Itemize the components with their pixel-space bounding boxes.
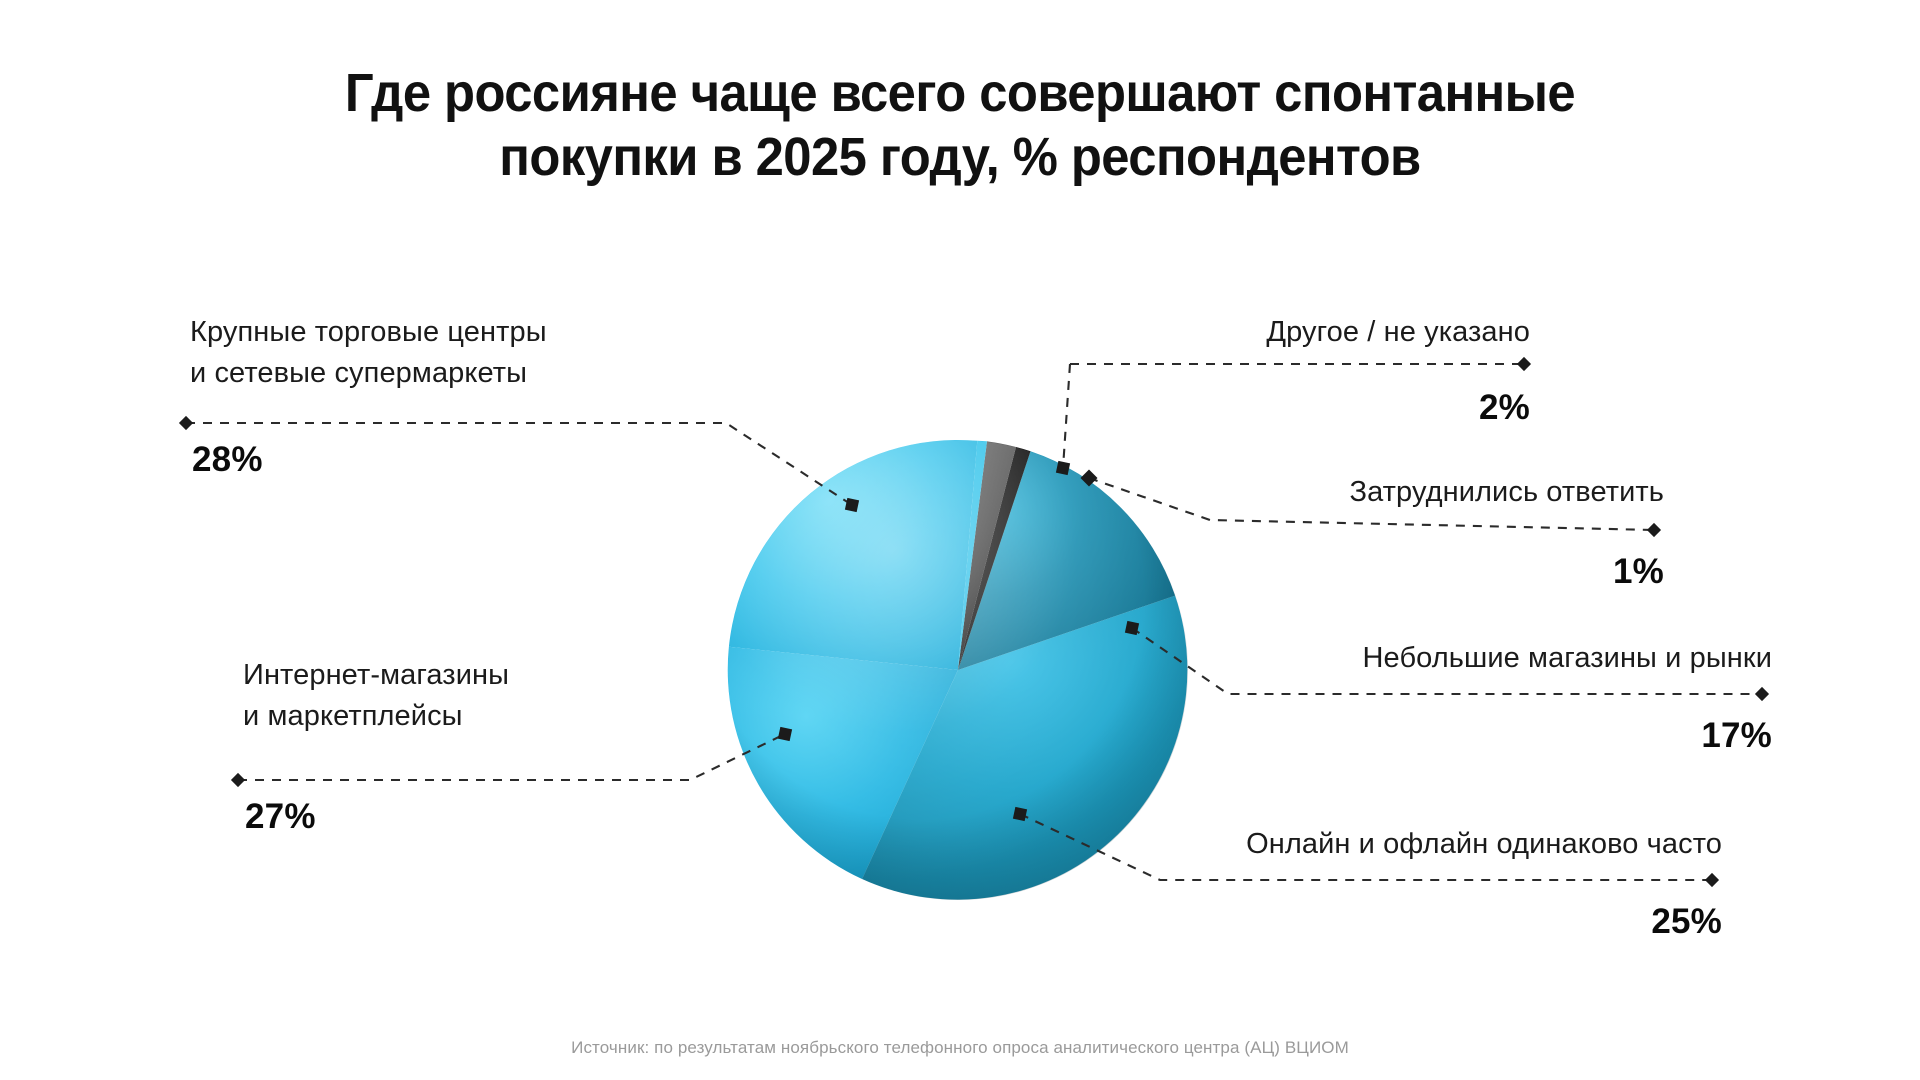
- leader-online: [238, 734, 785, 780]
- label-hard-line1: Затруднились ответить: [1349, 472, 1664, 513]
- label-both: Онлайн и офлайн одинаково часто: [1246, 824, 1722, 865]
- marker-online-pie: [778, 727, 792, 741]
- leader-malls: [186, 423, 852, 505]
- marker-online-label: [231, 773, 245, 787]
- label-both-line1: Онлайн и офлайн одинаково часто: [1246, 824, 1722, 865]
- marker-other-pie: [1056, 461, 1070, 475]
- marker-hard-pie: [1081, 470, 1098, 487]
- marker-both-pie: [1013, 807, 1027, 821]
- label-online-line2: и маркетплейсы: [243, 696, 509, 737]
- value-online: 27%: [245, 797, 316, 837]
- label-malls-line1: Крупные торговые центры: [190, 312, 547, 353]
- marker-small-pie: [1125, 621, 1139, 635]
- leader-endpoints: [179, 357, 1769, 887]
- marker-hard-label: [1647, 523, 1661, 537]
- value-small: 17%: [1701, 716, 1772, 756]
- value-hard: 1%: [1613, 552, 1664, 592]
- value-both: 25%: [1651, 902, 1722, 942]
- marker-malls-pie: [845, 498, 859, 512]
- label-online: Интернет-магазины и маркетплейсы: [243, 655, 509, 737]
- label-malls: Крупные торговые центры и сетевые суперм…: [190, 312, 547, 394]
- label-other-line1: Другое / не указано: [1266, 312, 1530, 353]
- infographic-canvas: Где россияне чаще всего совершают спонта…: [0, 0, 1920, 1080]
- marker-malls-label: [179, 416, 193, 430]
- label-small-line1: Небольшие магазины и рынки: [1363, 638, 1772, 679]
- label-hard: Затруднились ответить: [1349, 472, 1664, 513]
- leader-other-stem: [1063, 364, 1070, 468]
- label-malls-line2: и сетевые супермаркеты: [190, 353, 547, 394]
- label-online-line1: Интернет-магазины: [243, 655, 509, 696]
- marker-both-label: [1705, 873, 1719, 887]
- marker-small-label: [1755, 687, 1769, 701]
- label-small: Небольшие магазины и рынки: [1363, 638, 1772, 679]
- value-other: 2%: [1479, 388, 1530, 428]
- marker-other-label: [1517, 357, 1531, 371]
- value-malls: 28%: [192, 440, 263, 480]
- leader-lines: [0, 0, 1920, 1080]
- source-note: Источник: по результатам ноябрьского тел…: [0, 1038, 1920, 1058]
- label-other: Другое / не указано: [1266, 312, 1530, 353]
